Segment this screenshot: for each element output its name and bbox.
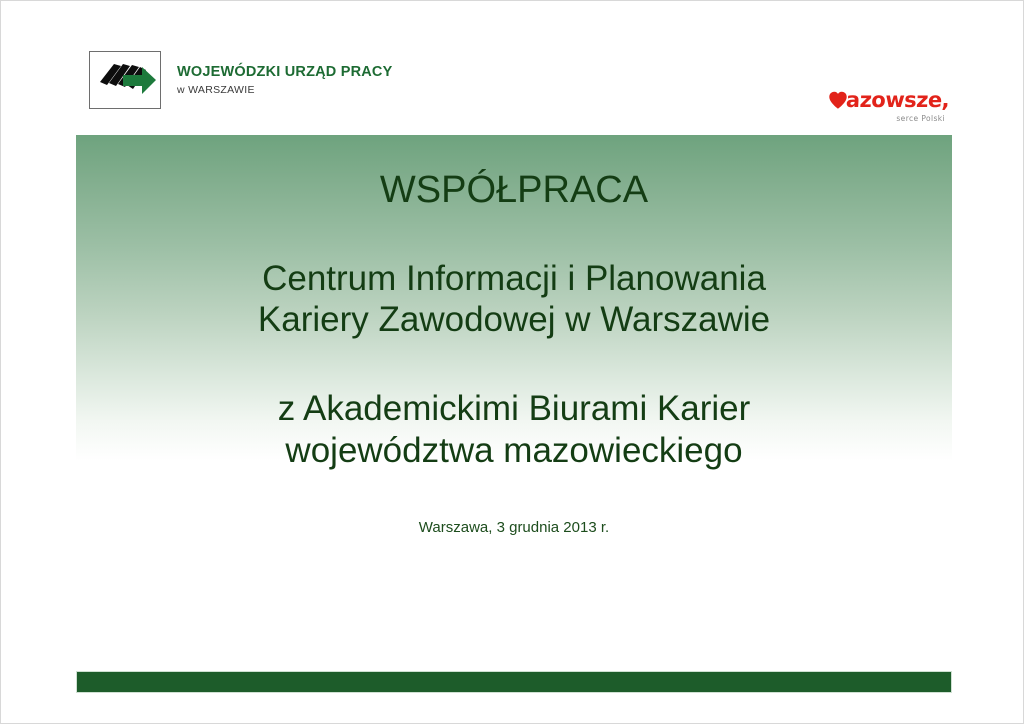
partners-name: z Akademickimi Biurami Karier województw… <box>76 340 952 471</box>
slide-header: WOJEWÓDZKI URZĄD PRACY w WARSZAWIE azows… <box>1 1 1024 135</box>
region-logo-wordmark-row: azowsze, <box>827 89 949 111</box>
event-date-line: Warszawa, 3 grudnia 2013 r. <box>76 471 952 536</box>
region-logo-tagline: serce Polski <box>827 114 945 123</box>
slide-body: WSPÓŁPRACA Centrum Informacji i Planowan… <box>76 135 952 655</box>
slide-headline: WSPÓŁPRACA <box>76 135 952 211</box>
region-logo-name: azowsze, <box>845 90 949 111</box>
institution-logo: WOJEWÓDZKI URZĄD PRACY w WARSZAWIE <box>89 51 392 109</box>
presentation-slide: WOJEWÓDZKI URZĄD PRACY w WARSZAWIE azows… <box>0 0 1024 724</box>
region-logo: azowsze, serce Polski <box>827 89 949 123</box>
institution-logo-text: WOJEWÓDZKI URZĄD PRACY w WARSZAWIE <box>177 65 392 96</box>
institution-name: WOJEWÓDZKI URZĄD PRACY <box>177 65 392 80</box>
organization-name: Centrum Informacji i Planowania Kariery … <box>76 211 952 341</box>
arrow-forward-with-stacked-chevrons-icon <box>89 51 161 109</box>
institution-city: w WARSZAWIE <box>177 85 392 96</box>
footer-accent-bar <box>76 671 952 693</box>
